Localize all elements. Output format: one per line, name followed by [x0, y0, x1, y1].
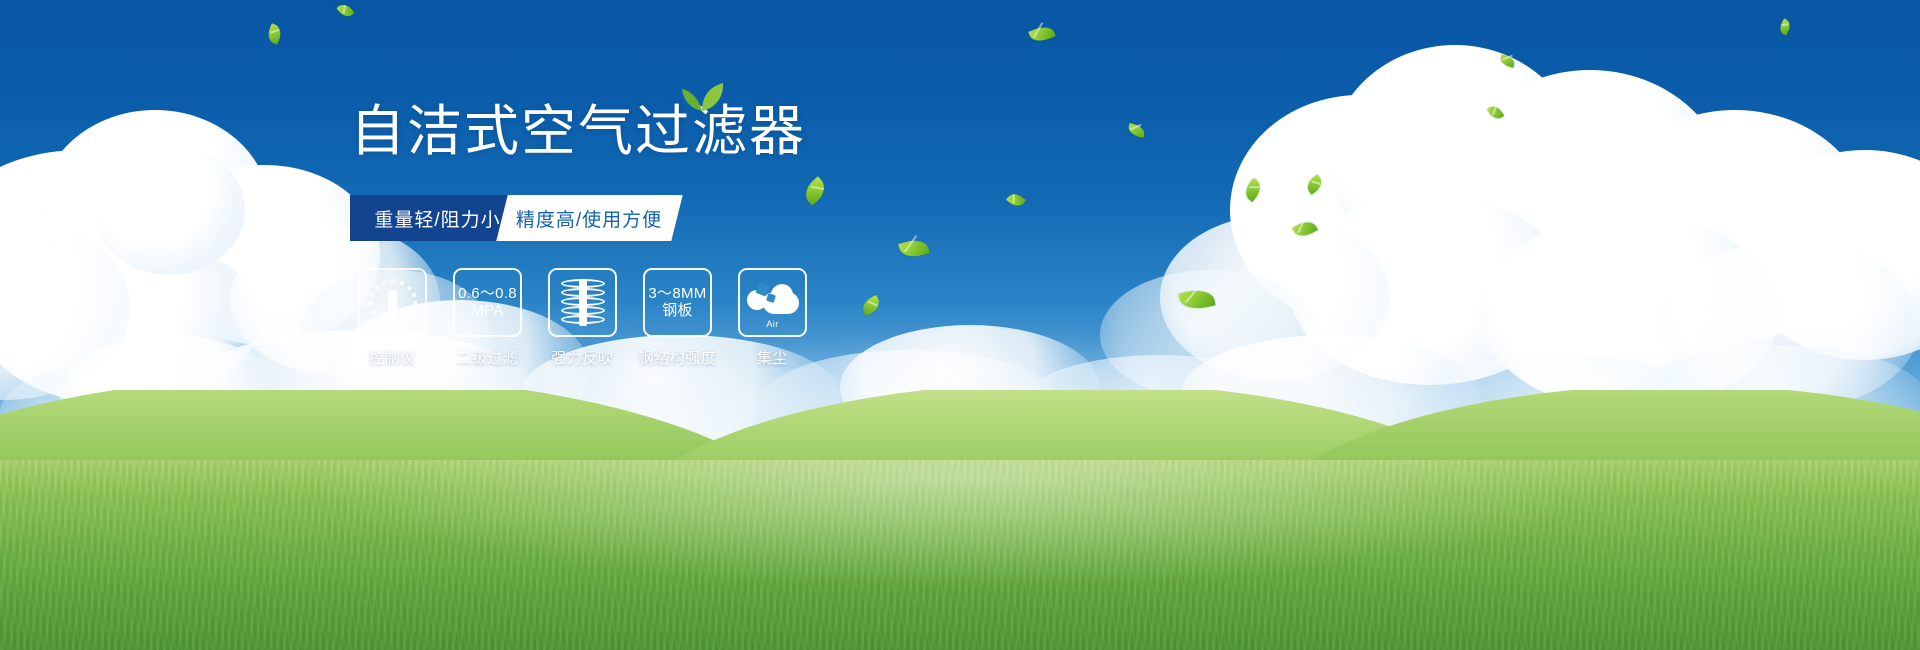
badge-secondary: 精度高/使用方便: [496, 195, 682, 241]
steel-plate-text-icon: 3～8MM 钢板: [648, 286, 706, 320]
feature-box: 0.6～0.8 MPA: [453, 268, 522, 337]
feature-caption: 钢结构强度: [639, 347, 717, 368]
feature-item-steel: 3～8MM 钢板 钢结构强度: [642, 268, 713, 368]
feature-item-controller: NO OFF 控制仪: [357, 268, 428, 368]
feature-caption: 控制仪: [369, 347, 416, 368]
pressure-line-2: MPA: [458, 303, 517, 320]
pressure-text-icon: 0.6～0.8 MPA: [458, 286, 517, 320]
gauge-label-off: OFF: [408, 314, 421, 320]
gauge-label-no: NO: [363, 304, 373, 310]
feature-item-pressure: 0.6～0.8 MPA 二级过滤: [452, 268, 523, 368]
feature-box: [548, 268, 617, 337]
air-cloud-icon: Air: [747, 280, 799, 326]
grass-field: [0, 390, 1920, 650]
feature-caption: 集尘: [757, 347, 788, 368]
feature-box: 3～8MM 钢板: [643, 268, 712, 337]
coil-spring-icon: [561, 278, 605, 328]
title-leaf-icon: [680, 82, 726, 112]
feature-box: Air: [738, 268, 807, 337]
badge-secondary-label: 精度高/使用方便: [516, 205, 662, 232]
feature-caption: 二级过滤: [456, 347, 518, 368]
air-label: Air: [747, 319, 799, 329]
steel-line-1: 3～8MM: [648, 286, 706, 303]
banner-content: 自洁式空气过滤器 重量轻/阻力小 精度高/使用方便: [350, 104, 1070, 241]
gauge-dial-icon: NO OFF: [365, 278, 421, 328]
feature-list: NO OFF 控制仪 0.6～0.8 MPA 二级过滤: [357, 268, 808, 368]
feature-caption: 强力反吹: [551, 347, 613, 368]
feature-box: NO OFF: [358, 268, 427, 337]
page-title: 自洁式空气过滤器: [350, 104, 1070, 159]
badge-bar: 重量轻/阻力小 精度高/使用方便: [350, 195, 670, 241]
feature-item-dust: Air 集尘: [737, 268, 808, 368]
pressure-line-1: 0.6～0.8: [458, 286, 517, 303]
hero-banner: 自洁式空气过滤器 重量轻/阻力小 精度高/使用方便: [0, 0, 1920, 650]
steel-line-2: 钢板: [648, 303, 706, 320]
feature-item-backblow: 强力反吹: [547, 268, 618, 368]
